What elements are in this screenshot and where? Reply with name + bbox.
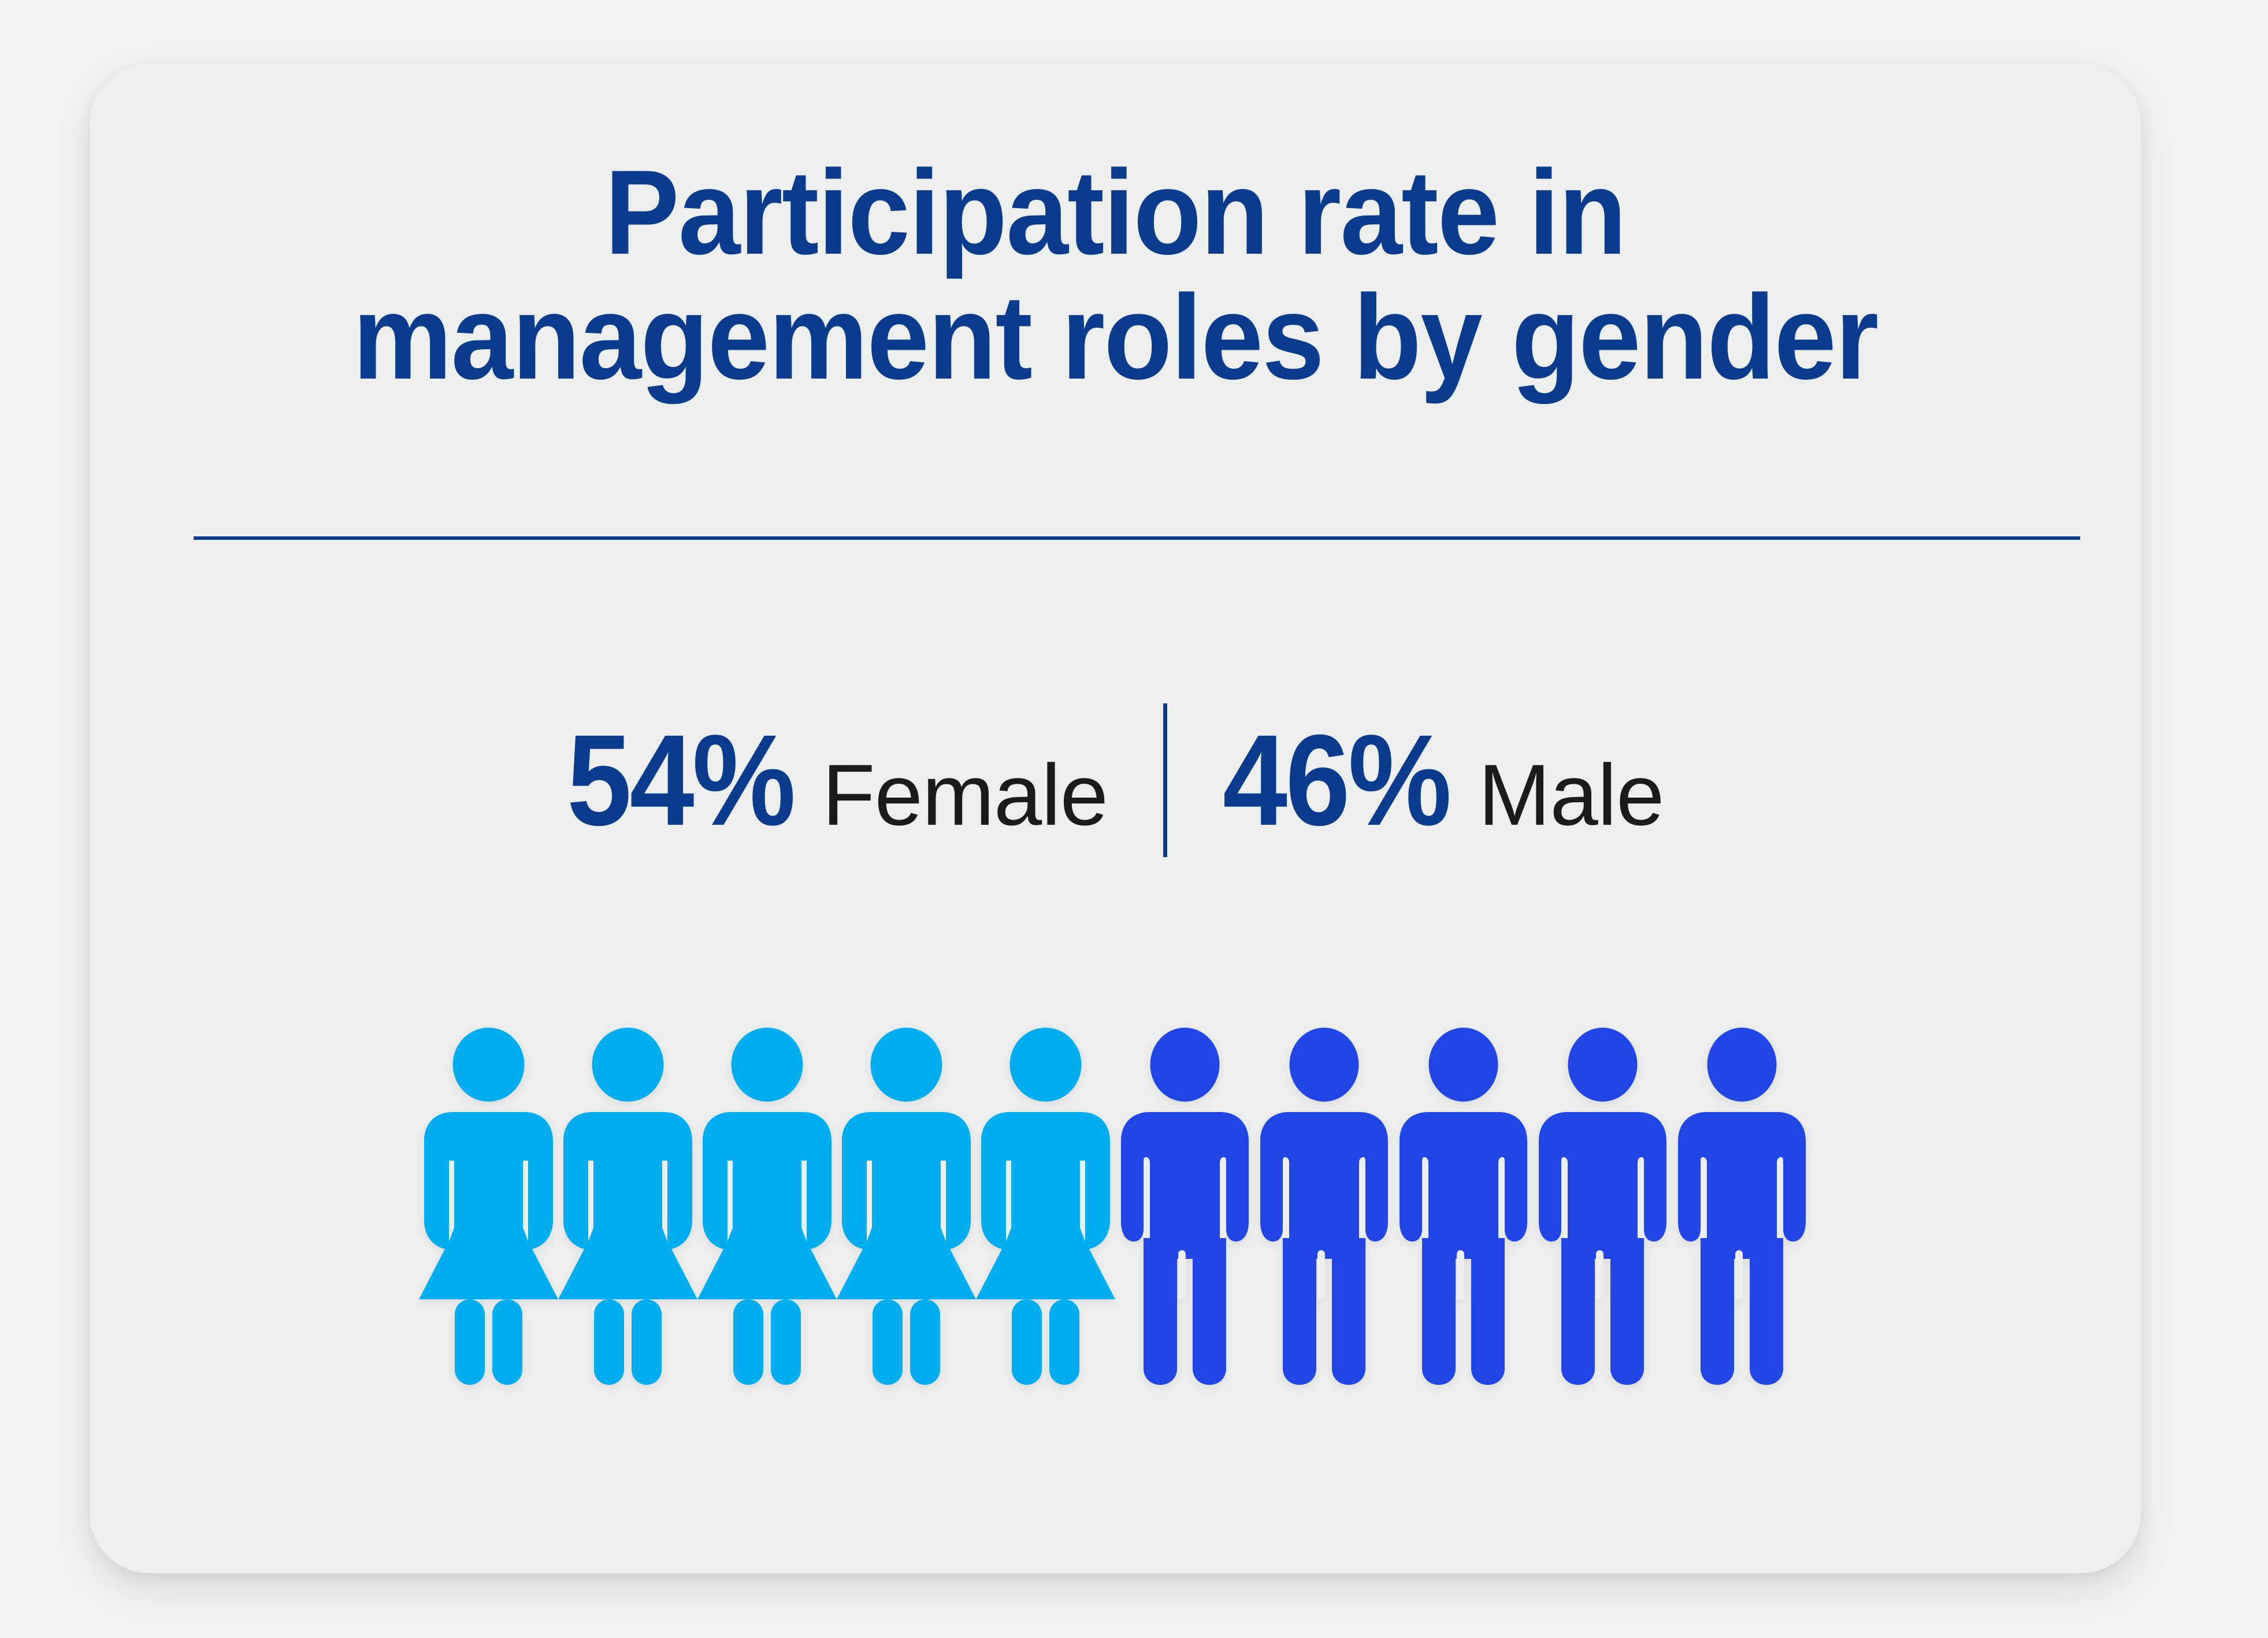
- stat-female-label: Female: [822, 751, 1108, 838]
- stat-male-value: 46%: [1223, 716, 1450, 845]
- title-line-1: Participation rate in: [161, 150, 2069, 275]
- female-figure-icon: [837, 1028, 976, 1385]
- stat-male: 46% Male: [1223, 716, 1664, 845]
- title-line-2: management roles by gender: [161, 275, 2069, 400]
- title-divider-rule: [194, 536, 2080, 540]
- stat-female-value: 54%: [567, 716, 794, 845]
- female-figure-icon: [697, 1028, 837, 1385]
- male-figure-icon: [1533, 1028, 1672, 1385]
- pictogram-row: [90, 1028, 2141, 1432]
- stat-vertical-divider: [1163, 703, 1167, 857]
- stat-female: 54% Female: [567, 716, 1108, 845]
- infographic-card: Participation rate in management roles b…: [90, 64, 2141, 1573]
- female-figure-icon: [419, 1028, 558, 1385]
- stat-male-label: Male: [1478, 751, 1664, 838]
- male-figure-icon: [1254, 1028, 1394, 1385]
- male-figure-icon: [1394, 1028, 1533, 1385]
- male-figure-icon: [1672, 1028, 1812, 1385]
- page-title: Participation rate in management roles b…: [90, 150, 2141, 401]
- stats-row: 54% Female 46% Male: [90, 694, 2141, 867]
- male-figure-icon: [1115, 1028, 1254, 1385]
- female-figure-icon: [558, 1028, 697, 1385]
- female-figure-icon: [976, 1028, 1115, 1385]
